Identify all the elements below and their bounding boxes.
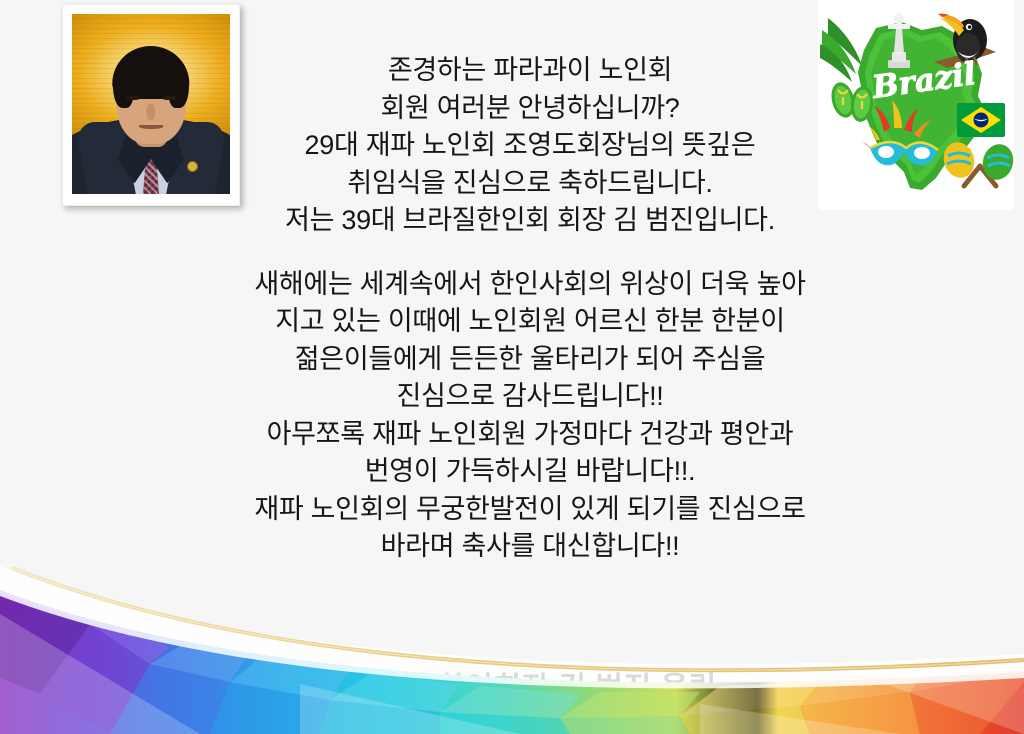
bottom-decorative-wave bbox=[0, 554, 1024, 734]
message-line: 진심으로 감사드립니다!! bbox=[150, 378, 910, 416]
message-line: 젊은이들에게 든든한 울타리가 되어 주심을 bbox=[150, 341, 910, 379]
brazilian-flag-icon bbox=[957, 103, 1005, 137]
slide-canvas: Brazil 존경하는 파라과이 노인회회원 여러분 안녕하십니까?29대 재파… bbox=[0, 0, 1024, 734]
message-line: 저는 39대 브라질한인회 회장 김 범진입니다. bbox=[150, 202, 910, 240]
message-line: 존경하는 파라과이 노인회 bbox=[150, 52, 910, 90]
message-line: 지고 있는 이때에 노인회원 어르신 한분 한분이 bbox=[150, 303, 910, 341]
message-line: 취임식을 진심으로 축하드립니다. bbox=[150, 165, 910, 203]
maracas-icon bbox=[939, 138, 1014, 186]
congratulatory-message: 존경하는 파라과이 노인회회원 여러분 안녕하십니까?29대 재파 노인회 조영… bbox=[150, 52, 910, 566]
paragraph-gap bbox=[150, 240, 910, 266]
message-line: 재파 노인회의 무궁한발전이 있게 되기를 진심으로 bbox=[150, 491, 910, 529]
message-line: 29대 재파 노인회 조영도회장님의 뜻깊은 bbox=[150, 127, 910, 165]
message-line: 번영이 가득하시길 바랍니다!!. bbox=[150, 453, 910, 491]
message-line: 새해에는 세계속에서 한인사회의 위상이 더욱 높아 bbox=[150, 266, 910, 304]
eye-left bbox=[126, 96, 140, 100]
message-line: 아무쪼록 재파 노인회원 가정마다 건강과 평안과 bbox=[150, 416, 910, 454]
message-line: 회원 여러분 안녕하십니까? bbox=[150, 90, 910, 128]
hair-left-shape bbox=[113, 61, 134, 108]
